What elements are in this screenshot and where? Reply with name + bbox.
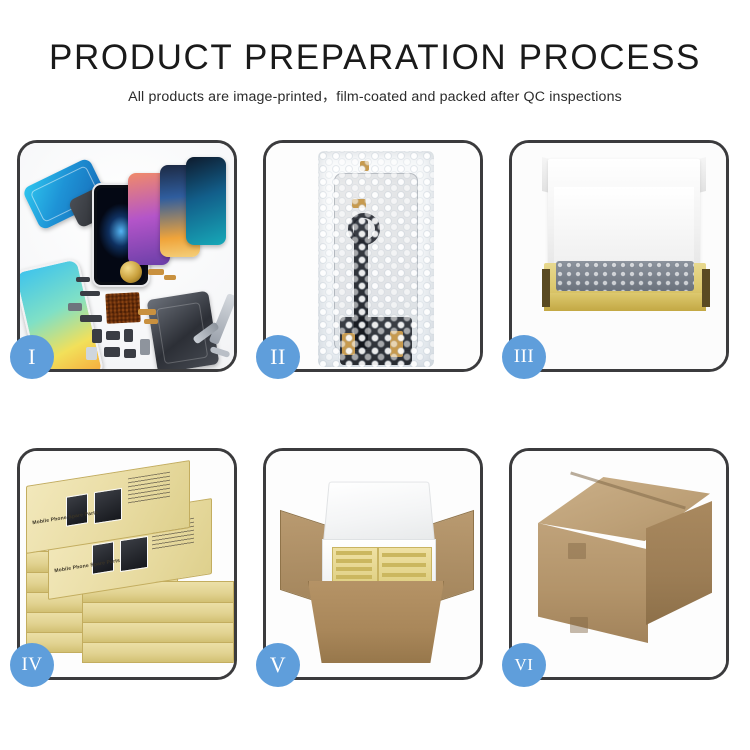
step-numeral: III [514,346,534,368]
yellow-box-edge [382,563,426,567]
step-2-image [266,143,480,369]
spare-part-bit [144,319,158,324]
step-numeral: VI [515,655,534,675]
process-step-panel-4: Mobile Phone Spare Parts Mobile Phone Sp… [17,448,237,680]
inner-box-illustration [512,143,726,369]
step-numeral: IV [21,654,42,676]
bubble-wrap-bag [318,151,434,367]
step-badge-5: V [256,643,300,687]
step-6-image [512,451,726,677]
process-step-panel-1: I [17,140,237,372]
spare-part-bit [92,329,102,343]
carton-body [308,581,444,663]
spare-part-bit [138,309,156,315]
yellow-box-edge [382,553,426,557]
stacked-box [82,641,234,663]
step-1-image [20,143,234,369]
spare-part-bit [86,347,97,360]
spare-part-bit [124,349,136,358]
sealed-carton-illustration [512,451,726,677]
stacked-box [82,621,234,643]
stacked-box [82,601,234,623]
spare-part-bit [80,291,100,296]
spare-part-bit [124,329,133,342]
process-step-panel-3: III [509,140,729,372]
bubble-texture-overlay [318,151,434,367]
spare-part-bit [140,339,150,355]
bubble-wrap-illustration [266,143,480,369]
box-end-left [542,269,550,307]
page-title: PRODUCT PREPARATION PROCESS [0,40,750,77]
spare-part-bit [104,347,120,357]
step-badge-4: IV [10,643,54,687]
foam-sheet [554,187,694,263]
header: PRODUCT PREPARATION PROCESS All products… [0,0,750,106]
carton-tape-upper [568,543,586,559]
yellow-box-edge [336,567,372,571]
logic-board-part [105,292,141,324]
speaker-module-part [120,261,142,283]
process-step-panel-6: VI [509,448,729,680]
spare-part-bit [76,277,90,282]
step-numeral: II [270,344,286,370]
yellow-box-edge [382,573,426,577]
step-badge-3: III [502,335,546,379]
yellow-box-edge [336,559,372,563]
spare-part-bit [80,315,102,322]
spare-part-bit [148,269,164,275]
phone-teal-gradient [186,157,226,245]
step-numeral: V [270,652,286,678]
printed-phone-image [92,541,114,574]
yellow-box-edge [336,551,372,555]
step-5-image [266,451,480,677]
page-subtitle: All products are image-printed，film-coat… [0,86,750,106]
product-preparation-infographic: PRODUCT PREPARATION PROCESS All products… [0,0,750,750]
foam-box-lid [323,482,435,544]
spare-part-bit [164,275,176,280]
spare-part-bit [106,331,120,340]
printed-phone-image [94,488,122,524]
process-step-panel-2: II [263,140,483,372]
step-numeral: I [28,344,36,370]
step-badge-1: I [10,335,54,379]
process-step-panel-5: V [263,448,483,680]
carton-front-face [538,523,648,643]
carton-loading-illustration [266,451,480,677]
step-badge-6: VI [502,643,546,687]
printed-phone-image [120,536,148,572]
step-badge-2: II [256,335,300,379]
stacked-boxes-illustration: Mobile Phone Spare Parts Mobile Phone Sp… [20,451,234,677]
yellow-box-edge [336,575,372,579]
process-step-grid: I [17,140,733,680]
components-flatlay-illustration [20,143,234,369]
printed-phone-image [66,493,88,526]
step-3-image [512,143,726,369]
carton-tape-lower [570,617,588,633]
grey-bubble-roll [556,261,694,291]
step-4-image: Mobile Phone Spare Parts Mobile Phone Sp… [20,451,234,677]
box-end-right [702,269,710,307]
yellow-box-front [544,293,706,311]
spare-part-bit [68,303,82,311]
